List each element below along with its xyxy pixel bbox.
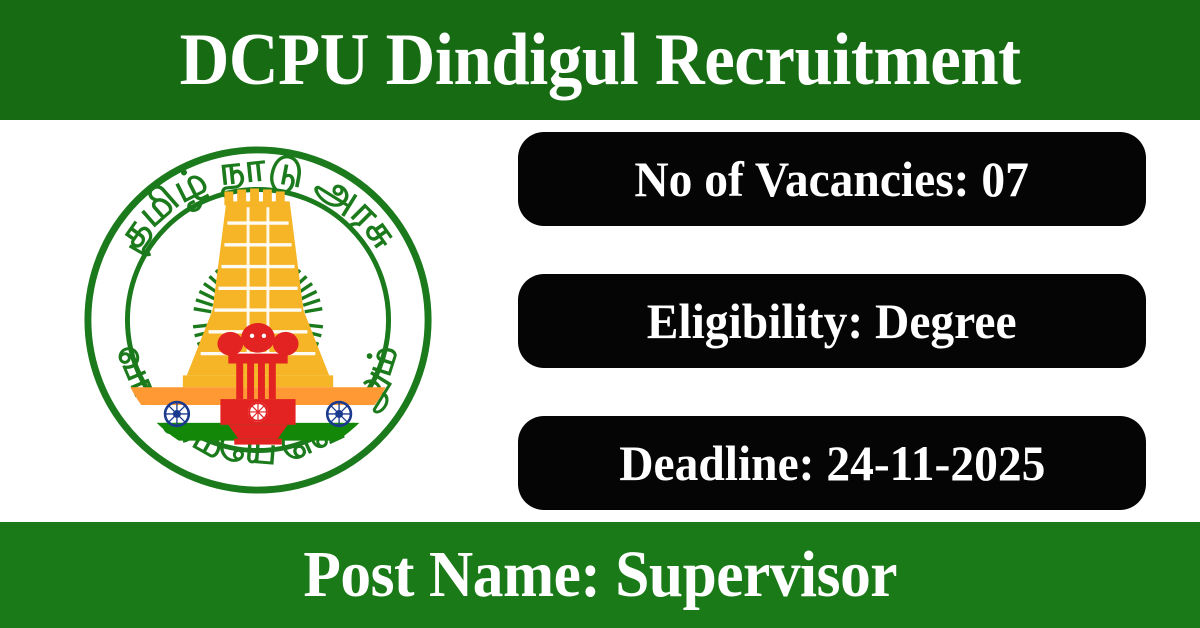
ashoka-chakra-left-icon [165,402,189,426]
recruitment-banner: DCPU Dindigul Recruitment தமிழ் நாடு அரச… [0,0,1200,628]
post-name-title: Post Name: Supervisor [303,542,897,608]
deadline-badge-label: Deadline: 24-11-2025 [619,438,1045,488]
tamil-nadu-emblem: தமிழ் நாடு அரசு வாய்மையே வெல்லும் [80,130,436,510]
page-title: DCPU Dindigul Recruitment [180,23,1021,97]
ashoka-chakra-right-icon [327,402,351,426]
vacancies-badge: No of Vacancies: 07 [518,132,1146,226]
deadline-badge: Deadline: 24-11-2025 [518,416,1146,510]
eligibility-badge: Eligibility: Degree [518,274,1146,368]
content-area: தமிழ் நாடு அரசு வாய்மையே வெல்லும் [0,120,1200,522]
info-badge-list: No of Vacancies: 07 Eligibility: Degree … [518,132,1146,510]
footer-bar: Post Name: Supervisor [0,522,1200,628]
eligibility-badge-label: Eligibility: Degree [647,296,1017,346]
header-bar: DCPU Dindigul Recruitment [0,0,1200,120]
tamil-nadu-emblem-icon: தமிழ் நாடு அரசு வாய்மையே வெல்லும் [80,130,436,510]
vacancies-badge-label: No of Vacancies: 07 [635,154,1030,204]
